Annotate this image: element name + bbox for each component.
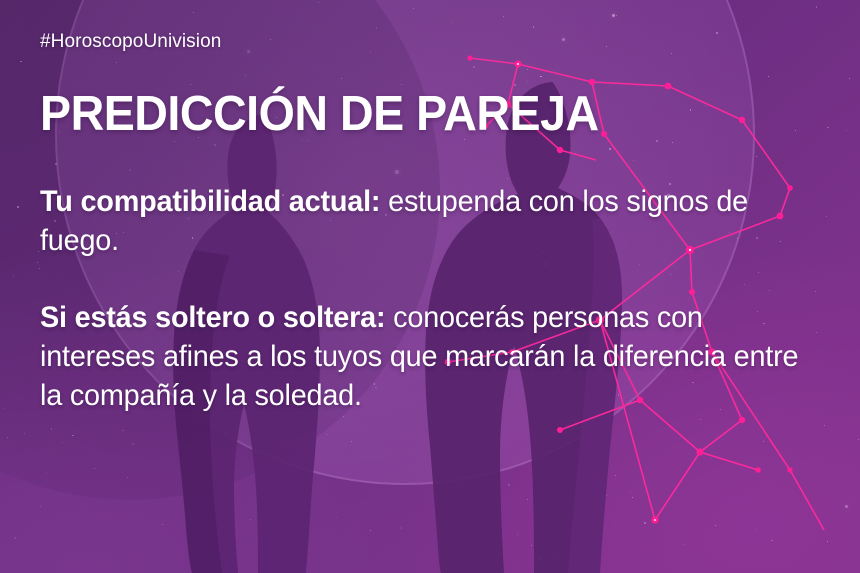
horoscope-card: #HoroscopoUnivision PREDICCIÓN DE PAREJA…	[0, 0, 860, 573]
paragraph-single: Si estás soltero o soltera: conocerás pe…	[40, 298, 798, 415]
paragraph-compatibility: Tu compatibilidad actual: estupenda con …	[40, 182, 798, 260]
hashtag-label: #HoroscopoUnivision	[40, 31, 221, 53]
paragraph-compatibility-lead: Tu compatibilidad actual:	[40, 185, 380, 218]
page-title: PREDICCIÓN DE PAREJA	[40, 90, 599, 139]
paragraph-single-lead: Si estás soltero o soltera:	[40, 301, 385, 334]
body-copy: Tu compatibilidad actual: estupenda con …	[40, 182, 830, 415]
